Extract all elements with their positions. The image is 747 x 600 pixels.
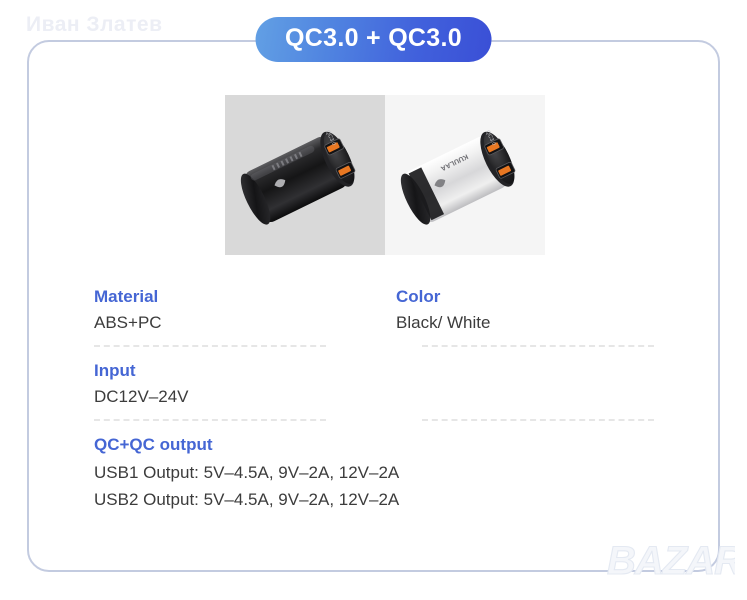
spec-row-input: Input DC12V–24V <box>94 359 654 410</box>
spec-blank <box>374 359 654 410</box>
spec-value-material: ABS+PC <box>94 310 352 336</box>
specifications: Material ABS+PC Color Black/ White Input… <box>94 285 654 514</box>
divider-right-1 <box>374 345 654 347</box>
spec-label-material: Material <box>94 285 352 310</box>
spec-label-blank <box>396 359 654 384</box>
spec-label-input: Input <box>94 359 352 384</box>
product-image-black[interactable]: QC3.0 <box>225 95 385 255</box>
spec-input: Input DC12V–24V <box>94 359 374 410</box>
divider-right-2 <box>374 419 654 421</box>
spec-label-output: QC+QC output <box>94 433 654 458</box>
spec-label-color: Color <box>396 285 654 310</box>
seller-watermark: Иван Златев <box>26 13 162 37</box>
spec-output: QC+QC output USB1 Output: 5V–4.5A, 9V–2A… <box>94 433 654 514</box>
product-image-white[interactable]: KUULAA QC3.0 <box>385 95 545 255</box>
spec-color: Color Black/ White <box>374 285 654 336</box>
product-gallery: QC3.0 <box>225 95 545 255</box>
spec-value-input: DC12V–24V <box>94 384 352 410</box>
divider-left-2 <box>94 419 374 421</box>
spec-material: Material ABS+PC <box>94 285 374 336</box>
title-badge: QC3.0 + QC3.0 <box>255 17 492 62</box>
output-line-usb1: USB1 Output: 5V–4.5A, 9V–2A, 12V–2A <box>94 459 654 487</box>
spec-value-color: Black/ White <box>396 310 654 336</box>
divider-row-1 <box>94 345 654 347</box>
spec-row-material-color: Material ABS+PC Color Black/ White <box>94 285 654 336</box>
output-line-usb2: USB2 Output: 5V–4.5A, 9V–2A, 12V–2A <box>94 486 654 514</box>
divider-left-1 <box>94 345 374 347</box>
divider-row-2 <box>94 419 654 421</box>
spec-value-blank <box>396 384 654 410</box>
